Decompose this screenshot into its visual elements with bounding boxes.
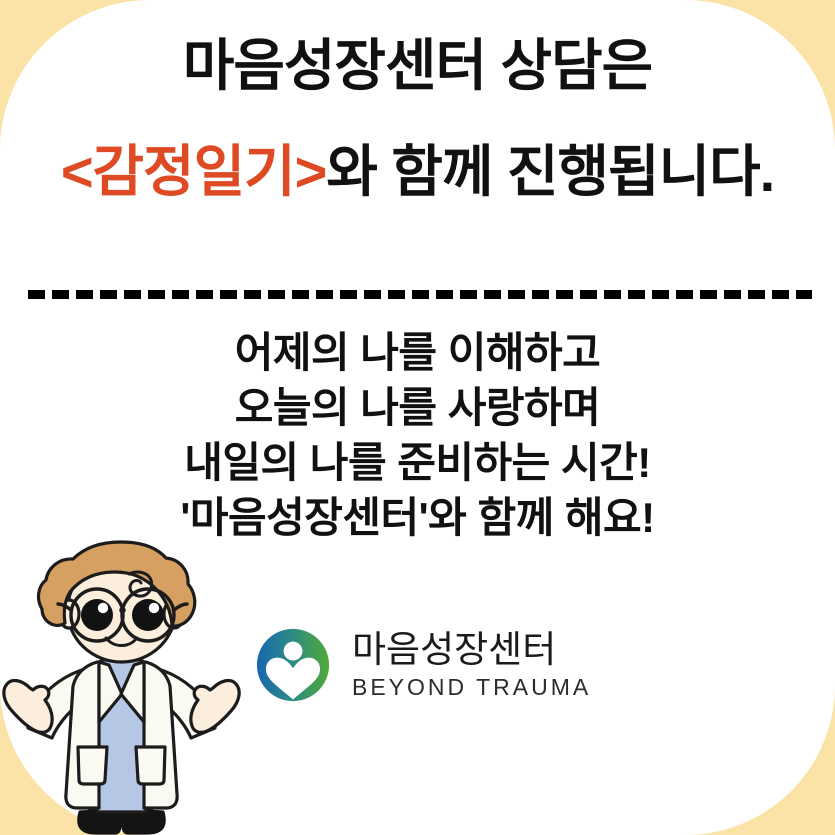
- character-left-hand: [4, 681, 52, 733]
- headline-rest-text: 와 함께 진행됩니다.: [326, 140, 774, 203]
- headline-line-1: 마음성장센터 상담은: [0, 30, 835, 102]
- poster-canvas: 마음성장센터 상담은 <감정일기>와 함께 진행됩니다. 어제의 나를 이해하고…: [0, 0, 835, 835]
- brand-name-korean: 마음성장센터: [352, 630, 591, 670]
- brand-logo-text: 마음성장센터 BEYOND TRAUMA: [352, 630, 591, 701]
- headline-line-2: <감정일기>와 함께 진행됩니다.: [0, 136, 835, 208]
- body-line-3: 내일의 나를 준비하는 시간!: [0, 435, 835, 490]
- body-line-1: 어제의 나를 이해하고: [0, 325, 835, 380]
- headline-accent-text: <감정일기>: [61, 140, 327, 203]
- brand-mark-icon: [252, 624, 334, 706]
- brand-logo-lockup: 마음성장센터 BEYOND TRAUMA: [252, 624, 591, 706]
- character-coat-pocket-left: [78, 747, 107, 784]
- character-right-hand: [191, 681, 239, 733]
- dashed-divider: [28, 290, 812, 299]
- body-line-2: 오늘의 나를 사랑하며: [0, 380, 835, 435]
- headline-block: 마음성장센터 상담은 <감정일기>와 함께 진행됩니다.: [0, 30, 835, 208]
- brand-name-english: BEYOND TRAUMA: [352, 673, 591, 701]
- body-copy-block: 어제의 나를 이해하고 오늘의 나를 사랑하며 내일의 나를 준비하는 시간! …: [0, 325, 835, 545]
- character-coat-pocket-right: [136, 747, 165, 784]
- counselor-character-illustration: [0, 522, 248, 835]
